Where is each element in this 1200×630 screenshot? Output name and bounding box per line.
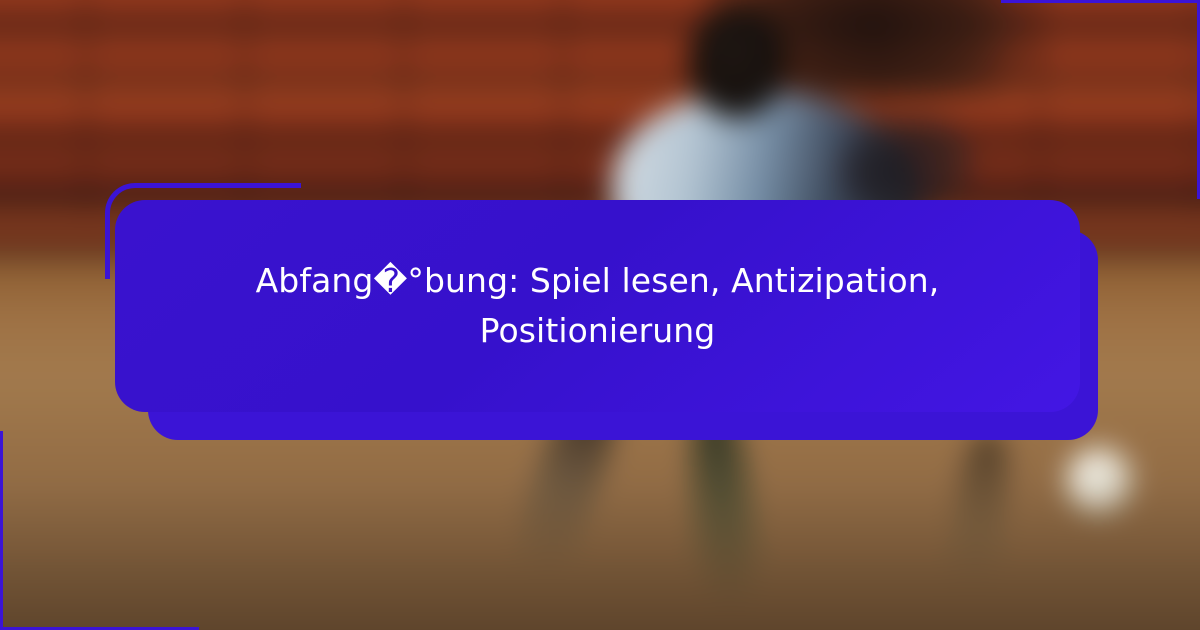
slide-canvas: Abfang�°bung: Spiel lesen, Antizipation,… — [0, 0, 1200, 630]
ground-shadow — [0, 479, 1200, 630]
player-head — [689, 4, 787, 118]
page-title: Abfang�°bung: Spiel lesen, Antizipation,… — [173, 256, 1022, 356]
title-card: Abfang�°bung: Spiel lesen, Antizipation,… — [115, 200, 1080, 412]
